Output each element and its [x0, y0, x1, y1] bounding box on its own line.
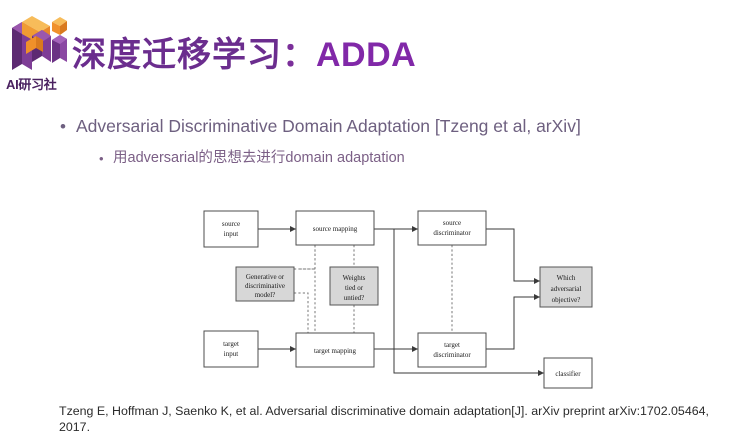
- page-title-cn: 深度迁移学习: [72, 36, 282, 74]
- page-title-colon: ：: [282, 36, 316, 74]
- bullet-level2: • 用adversarial的思想去进行domain adaptation: [98, 149, 698, 168]
- diagram-label-gen-disc-line3: model?: [255, 291, 276, 299]
- diagram-box-target-discriminator: [418, 333, 486, 367]
- diagram-label-target-disc-line2: discriminator: [433, 351, 471, 359]
- diagram-label-target-mapping: target mapping: [314, 347, 357, 355]
- diagram-label-target-input-line1: target: [223, 340, 239, 348]
- diagram-label-gen-disc-line1: Generative or: [246, 273, 285, 281]
- diagram-label-source-disc-line1: source: [443, 219, 461, 227]
- citation-text: Tzeng E, Hoffman J, Saenko K, et al. Adv…: [59, 403, 719, 435]
- bullet-level1: • Adversarial Discriminative Domain Adap…: [58, 115, 698, 138]
- diagram-label-classifier: classifier: [555, 370, 581, 378]
- bullet-level1-text: Adversarial Discriminative Domain Adapta…: [76, 116, 581, 136]
- diagram-label-source-mapping: source mapping: [313, 225, 358, 233]
- diagram-box-source-input: [204, 211, 258, 247]
- diagram-label-which-adv-line1: Which: [557, 274, 576, 282]
- diagram-label-target-disc-line1: target: [444, 341, 460, 349]
- diagram-label-weights-line2: tied or: [345, 284, 364, 292]
- diagram-label-source-disc-line2: discriminator: [433, 229, 471, 237]
- diagram-label-which-adv-line2: adversarial: [551, 285, 582, 293]
- bullet-level2-text: 用adversarial的思想去进行domain adaptation: [113, 150, 405, 166]
- page-title-en: ADDA: [316, 36, 416, 74]
- diagram-box-source-discriminator: [418, 211, 486, 245]
- diagram-label-source-input-line2: input: [224, 230, 238, 238]
- diagram-label-gen-disc-line2: discriminative: [245, 282, 285, 290]
- adda-architecture-diagram: source input source mapping source discr…: [196, 203, 596, 393]
- diagram-label-weights-line1: Weights: [343, 274, 366, 282]
- diagram-label-target-input-line2: input: [224, 350, 238, 358]
- bullet-marker-icon: •: [99, 149, 104, 168]
- brand-name: AI研习社: [6, 74, 57, 93]
- bullet-marker-icon: •: [60, 115, 66, 138]
- diagram-label-weights-line3: untied?: [344, 294, 365, 302]
- bullet-list: • Adversarial Discriminative Domain Adap…: [58, 115, 698, 168]
- diagram-label-which-adv-line3: objective?: [552, 296, 581, 304]
- diagram-box-target-input: [204, 331, 258, 367]
- page-title: 深度迁移学习：ADDA: [72, 33, 416, 77]
- slide-header: AI研习社 深度迁移学习：ADDA: [0, 0, 740, 100]
- diagram-label-source-input-line1: source: [222, 220, 240, 228]
